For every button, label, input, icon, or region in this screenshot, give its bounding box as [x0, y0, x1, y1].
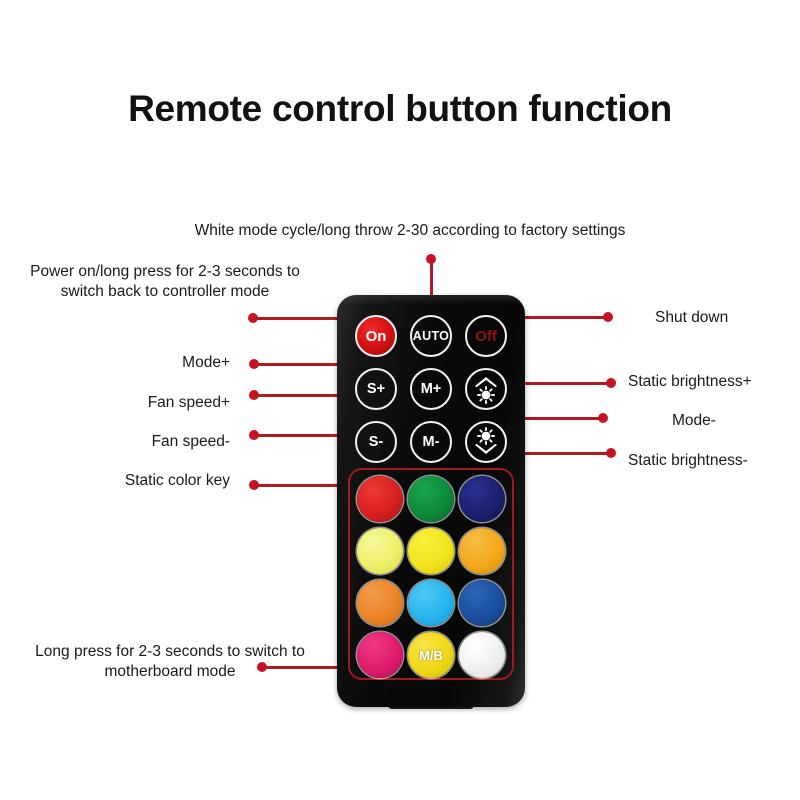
annotation-static-color-key: Static color key [50, 471, 230, 491]
off-button[interactable]: Off [465, 315, 507, 357]
annotation-motherboard-mode: Long press for 2-3 seconds to switch to … [5, 642, 335, 682]
s-minus-button[interactable]: S- [355, 421, 397, 463]
color-magenta[interactable] [357, 632, 403, 678]
page-title: Remote control button function [0, 88, 800, 130]
auto-button-label: AUTO [413, 329, 449, 343]
mb-button[interactable]: M/B [408, 632, 454, 678]
color-green[interactable] [408, 476, 454, 522]
on-button-label: On [366, 328, 387, 345]
color-blue[interactable] [459, 580, 505, 626]
auto-button[interactable]: AUTO [410, 315, 452, 357]
annotation-white-mode-cycle: White mode cycle/long throw 2-30 accordi… [155, 221, 665, 241]
diagram-canvas: Remote control button function White mod… [0, 0, 800, 800]
s-minus-button-label: S- [369, 434, 384, 450]
remote-control-body: On AUTO Off S+ M+ [337, 295, 525, 707]
on-button[interactable]: On [355, 315, 397, 357]
brightness-down-icon [471, 427, 501, 457]
color-navy[interactable] [459, 476, 505, 522]
color-red[interactable] [357, 476, 403, 522]
color-cyan[interactable] [408, 580, 454, 626]
s-plus-button-label: S+ [367, 381, 385, 397]
brightness-down-button[interactable] [465, 421, 507, 463]
color-yellow[interactable] [408, 528, 454, 574]
annotation-power-on: Power on/long press for 2-3 seconds to s… [0, 262, 330, 302]
s-plus-button[interactable]: S+ [355, 368, 397, 410]
annotation-mode-minus: Mode- [672, 411, 792, 431]
brightness-up-button[interactable] [465, 368, 507, 410]
annotation-static-brightness-plus: Static brightness+ [628, 372, 800, 392]
color-orange[interactable] [357, 580, 403, 626]
annotation-fan-speed-minus: Fan speed- [60, 432, 230, 452]
off-button-label: Off [475, 328, 497, 345]
m-plus-button[interactable]: M+ [410, 368, 452, 410]
m-minus-button[interactable]: M- [410, 421, 452, 463]
remote-button-grid: On AUTO Off S+ M+ [337, 295, 525, 707]
mb-button-label: M/B [419, 648, 443, 663]
annotation-fan-speed-plus: Fan speed+ [60, 393, 230, 413]
color-pale-yellow[interactable] [357, 528, 403, 574]
annotation-static-brightness-minus: Static brightness- [628, 451, 800, 471]
color-white[interactable] [459, 632, 505, 678]
brightness-up-icon [471, 374, 501, 404]
annotation-shut-down: Shut down [655, 308, 795, 328]
annotation-mode-plus: Mode+ [60, 353, 230, 373]
m-plus-button-label: M+ [421, 381, 442, 397]
m-minus-button-label: M- [423, 434, 440, 450]
color-amber[interactable] [459, 528, 505, 574]
